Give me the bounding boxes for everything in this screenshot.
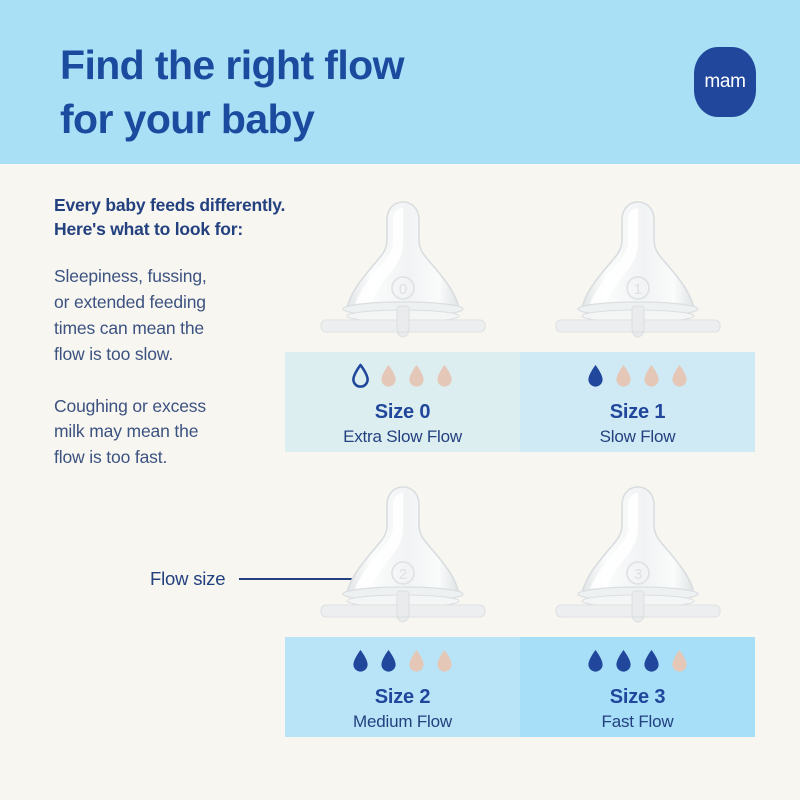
nipple-graphic: 0 bbox=[305, 196, 501, 352]
nipple-illustration-size-1: 1 bbox=[520, 196, 755, 352]
drop-filled-icon bbox=[379, 648, 398, 674]
info-card-size-2: Size 2 Medium Flow bbox=[285, 637, 520, 737]
product-cell-size-0: 0 Size 0 Extra Slow Flow bbox=[285, 196, 520, 452]
drop-empty-icon bbox=[407, 363, 426, 389]
drop-empty-icon bbox=[614, 363, 633, 389]
intro-text-block: Every baby feeds differently. Here's wha… bbox=[54, 194, 294, 471]
header-banner: Find the right flow for your baby mam bbox=[0, 0, 800, 164]
drop-empty-icon bbox=[435, 648, 454, 674]
size-title: Size 2 bbox=[285, 686, 520, 709]
drop-empty-icon bbox=[379, 363, 398, 389]
drop-filled-icon bbox=[586, 363, 605, 389]
flow-size-callout-label: Flow size bbox=[150, 568, 225, 590]
drop-empty-icon bbox=[670, 363, 689, 389]
intro-paragraph-fast: Coughing or excess milk may mean the flo… bbox=[54, 394, 294, 472]
nipple-size-marking: 1 bbox=[633, 281, 641, 298]
flow-drops-size-3 bbox=[520, 648, 755, 676]
intro-lead: Every baby feeds differently. Here's wha… bbox=[54, 194, 294, 242]
drop-empty-icon bbox=[670, 648, 689, 674]
flow-label: Extra Slow Flow bbox=[285, 427, 520, 447]
product-cell-size-3: 3 Size 3 Fast Flow bbox=[520, 481, 755, 737]
size-title: Size 3 bbox=[520, 686, 755, 709]
nipple-illustration-size-2: 2 bbox=[285, 481, 520, 637]
drop-empty-icon bbox=[407, 648, 426, 674]
product-cell-size-2: 2 Size 2 Medium Flow bbox=[285, 481, 520, 737]
infographic-page: Find the right flow for your baby mam Ev… bbox=[0, 0, 800, 800]
page-title: Find the right flow for your baby bbox=[60, 38, 620, 146]
drop-empty-icon bbox=[642, 363, 661, 389]
drop-filled-icon bbox=[351, 648, 370, 674]
size-title: Size 1 bbox=[520, 401, 755, 424]
drop-filled-icon bbox=[586, 648, 605, 674]
flow-label: Fast Flow bbox=[520, 712, 755, 732]
flow-drops-size-0 bbox=[285, 363, 520, 391]
drop-empty-icon bbox=[435, 363, 454, 389]
flow-label: Slow Flow bbox=[520, 427, 755, 447]
info-card-size-0: Size 0 Extra Slow Flow bbox=[285, 352, 520, 452]
info-card-size-1: Size 1 Slow Flow bbox=[520, 352, 755, 452]
logo-wordmark: mam bbox=[704, 71, 745, 93]
size-title: Size 0 bbox=[285, 401, 520, 424]
drop-filled-icon bbox=[614, 648, 633, 674]
nipple-size-marking: 2 bbox=[398, 566, 406, 583]
nipple-graphic: 2 bbox=[305, 481, 501, 637]
nipple-size-marking: 0 bbox=[398, 281, 406, 298]
mam-logo: mam bbox=[694, 47, 756, 117]
nipple-size-marking: 3 bbox=[633, 566, 641, 583]
product-cell-size-1: 1 Size 1 Slow Flow bbox=[520, 196, 755, 452]
nipple-graphic: 1 bbox=[540, 196, 736, 352]
intro-paragraph-slow: Sleepiness, fussing, or extended feeding… bbox=[54, 264, 294, 368]
flow-label: Medium Flow bbox=[285, 712, 520, 732]
nipple-illustration-size-0: 0 bbox=[285, 196, 520, 352]
drop-filled-icon bbox=[642, 648, 661, 674]
nipple-graphic: 3 bbox=[540, 481, 736, 637]
flow-drops-size-1 bbox=[520, 363, 755, 391]
nipple-illustration-size-3: 3 bbox=[520, 481, 755, 637]
drop-outline-icon bbox=[351, 363, 370, 389]
flow-drops-size-2 bbox=[285, 648, 520, 676]
info-card-size-3: Size 3 Fast Flow bbox=[520, 637, 755, 737]
